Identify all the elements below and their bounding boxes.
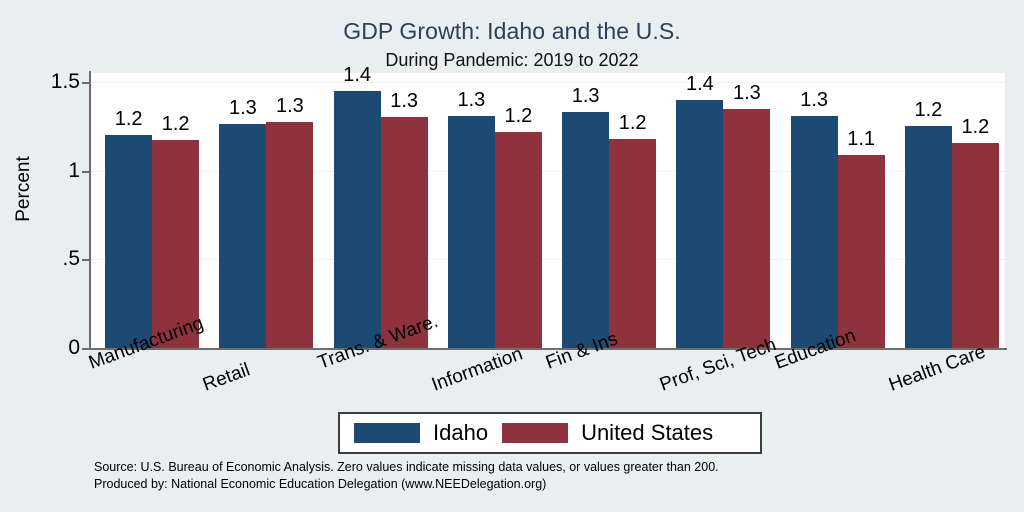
bar-value-label: 1.3 [257,96,322,116]
chart-title: GDP Growth: Idaho and the U.S. [0,18,1024,45]
legend-label-idaho: Idaho [433,420,488,446]
bar-united-states [952,143,999,348]
bar-value-label: 1.2 [486,106,551,126]
bar-idaho [562,112,609,348]
bar-united-states [838,155,885,348]
chart-legend: Idaho United States [338,412,762,454]
bar-value-label: 1.4 [325,65,390,85]
bar-idaho [105,135,152,348]
y-axis-line [89,71,91,350]
bar-united-states [266,122,313,348]
chart-subtitle: During Pandemic: 2019 to 2022 [0,50,1024,71]
bar-value-label: 1.3 [714,83,779,103]
bar-value-label: 1.2 [143,114,208,134]
x-axis-label-retail: Retail [200,359,253,396]
bar-value-label: 1.2 [600,113,665,133]
bar-united-states [609,139,656,348]
bar-value-label: 1.3 [553,86,618,106]
y-axis-tick-labels: 0.511.5 [0,0,80,512]
y-axis-title: Percent [13,99,35,279]
bar-united-states [495,132,542,348]
y-axis-tick-mark [82,171,90,173]
gridline [91,82,1005,83]
bar-value-label: 1.3 [372,91,437,111]
y-axis-tick-mark [82,82,90,84]
legend-entry-idaho: Idaho [340,414,488,452]
plot-area: 1.21.21.31.31.41.31.31.21.31.21.41.31.31… [91,73,1005,348]
bar-united-states [723,109,770,348]
bar-idaho [334,91,381,348]
bar-idaho [448,116,495,348]
footnote-source-line: Source: U.S. Bureau of Economic Analysis… [94,459,954,476]
x-axis-label-information: Information [429,343,526,396]
bar-idaho [905,126,952,348]
x-axis-category-labels: ManufacturingRetailTrans. & Ware.Informa… [0,348,1024,408]
legend-swatch-idaho [354,423,420,443]
bar-value-label: 1.1 [829,129,894,149]
y-axis-tick-label: 1.5 [8,71,80,92]
y-axis-tick-mark [82,259,90,261]
legend-label-united-states: United States [581,420,713,446]
footnote: Source: U.S. Bureau of Economic Analysis… [94,459,954,493]
bar-united-states [381,117,428,348]
legend-swatch-united-states [502,423,568,443]
bar-idaho [219,124,266,348]
footnote-produced-by-line: Produced by: National Economic Education… [94,476,954,493]
x-axis-label-health-care: Health Care [886,341,989,396]
bar-idaho [791,116,838,348]
bar-value-label: 1.3 [782,90,847,110]
chart-figure: GDP Growth: Idaho and the U.S. During Pa… [0,0,1024,512]
legend-entry-united-states: United States [488,414,713,452]
bar-idaho [676,100,723,348]
bar-value-label: 1.2 [943,117,1008,137]
